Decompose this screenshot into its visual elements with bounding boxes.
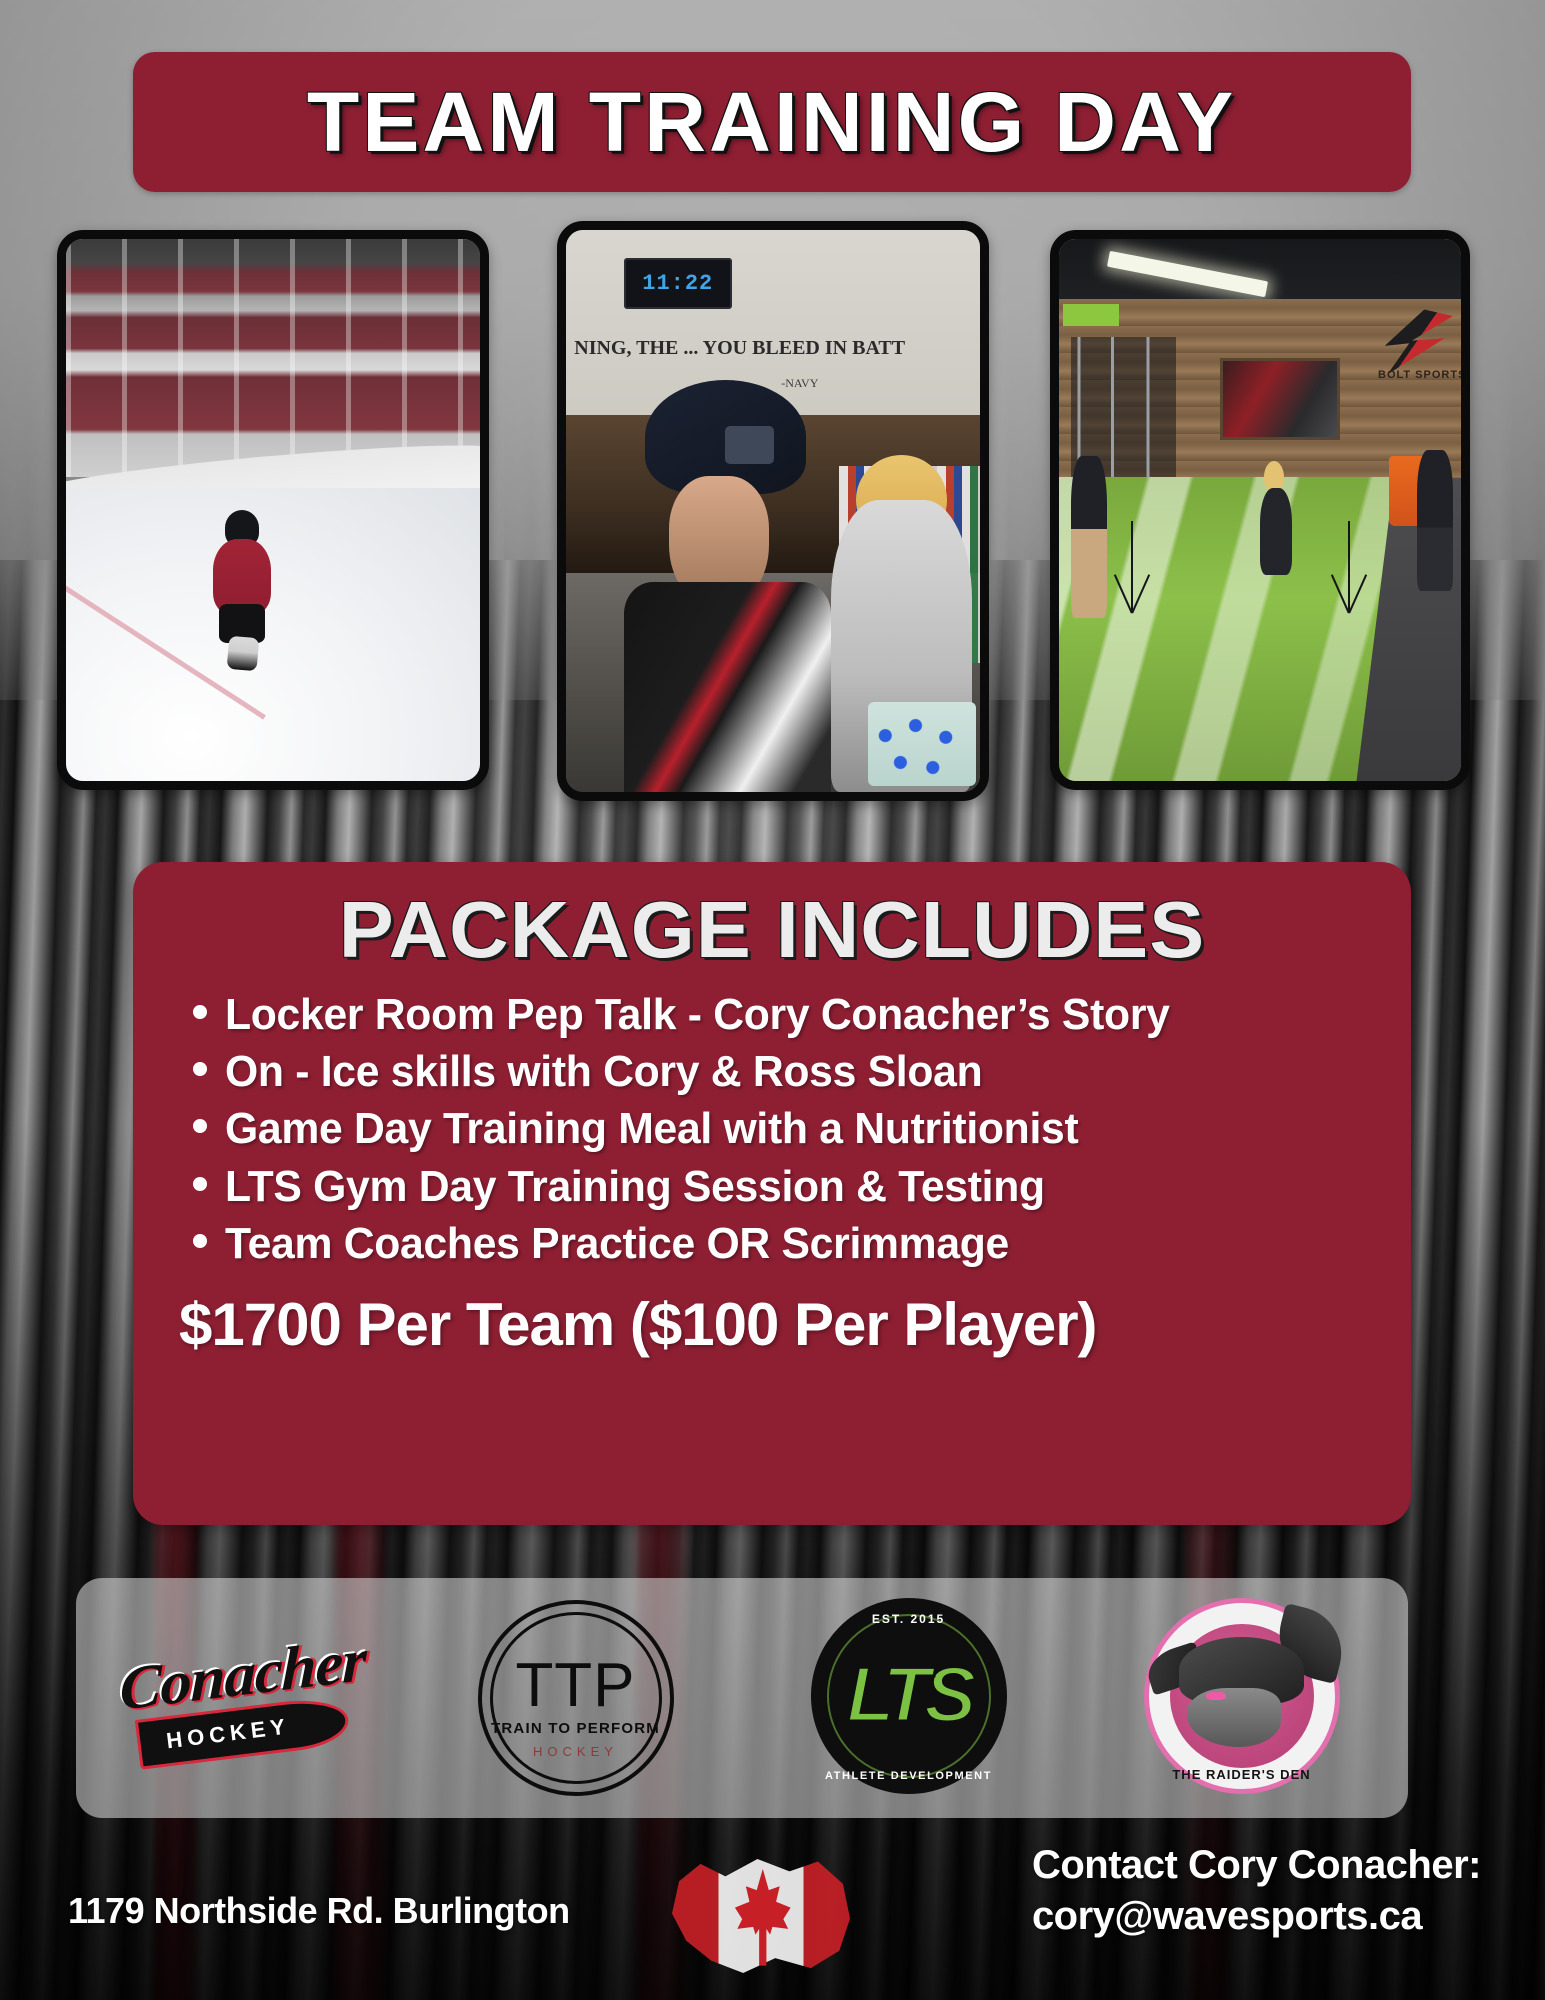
skater-jersey: [213, 539, 271, 614]
contact-label: Contact Cory Conacher:: [1032, 1840, 1481, 1891]
list-item: Game Day Training Meal with a Nutritioni…: [193, 1100, 1371, 1157]
raiders-arc-text: THE RAIDER'S DEN: [1144, 1767, 1340, 1782]
conacher-logo-group: Conacher HOCKEY: [128, 1598, 358, 1798]
ttp-logo-group: TTP TRAIN TO PERFORM HOCKEY: [476, 1598, 676, 1798]
package-heading: PACKAGE INCLUDES: [155, 884, 1389, 976]
list-item: Locker Room Pep Talk - Cory Conacher’s S…: [193, 986, 1371, 1043]
bolt-sports-wall-text: BOLT SPORTS: [1378, 369, 1467, 381]
price-line: $1700 Per Team ($100 Per Player): [173, 1290, 1371, 1359]
bullet-dot-icon: [193, 1062, 207, 1076]
lts-logo-group: EST. 2015 LTS ATHLETE DEVELOPMENT: [811, 1598, 1007, 1794]
cap-logo-patch: [725, 426, 773, 465]
photo-locker-room-content: 11:22 NING, THE ... YOU BLEED IN BATTLE.…: [566, 230, 980, 792]
raiders-logo-group: THE RAIDER'S DEN: [1144, 1598, 1340, 1794]
gym-window: [1220, 358, 1341, 439]
list-item: On - Ice skills with Cory & Ross Sloan: [193, 1043, 1371, 1100]
rink-stands: [66, 239, 480, 477]
list-item: Team Coaches Practice OR Scrimmage: [193, 1215, 1371, 1272]
bystander-left: [1071, 456, 1107, 619]
package-item-label: Team Coaches Practice OR Scrimmage: [225, 1215, 1009, 1272]
ttp-sport: HOCKEY: [476, 1744, 676, 1759]
photo-locker-room: 11:22 NING, THE ... YOU BLEED IN BATTLE.…: [557, 221, 989, 801]
package-item-label: LTS Gym Day Training Session & Testing: [225, 1158, 1045, 1215]
address-text: 1179 Northside Rd. Burlington: [68, 1890, 570, 1932]
package-item-label: Locker Room Pep Talk - Cory Conacher’s S…: [225, 986, 1170, 1043]
poster-title: TEAM TRAINING DAY: [307, 74, 1236, 171]
lts-monogram: LTS: [846, 1641, 971, 1751]
sponsor-logo-bar: Conacher HOCKEY TTP TRAIN TO PERFORM HOC…: [76, 1578, 1408, 1818]
logo-raiders-den: THE RAIDER'S DEN: [1127, 1598, 1357, 1798]
footer: 1179 Northside Rd. Burlington Contact Co…: [0, 1830, 1545, 2000]
photo-on-ice-skating: [57, 230, 489, 790]
ttp-monogram: TTP: [476, 1650, 676, 1721]
package-list: Locker Room Pep Talk - Cory Conacher’s S…: [193, 986, 1371, 1272]
coach-jacket: [624, 582, 831, 801]
photo-strip: 11:22 NING, THE ... YOU BLEED IN BATTLE.…: [0, 222, 1545, 792]
bullet-dot-icon: [193, 1119, 207, 1133]
scoreboard-clock: 11:22: [624, 258, 732, 309]
coach-figure: [632, 354, 839, 792]
runner-figure: [1260, 488, 1292, 575]
bullet-dot-icon: [193, 1177, 207, 1191]
bolt-icon: [1385, 309, 1453, 374]
logo-conacher-hockey: Conacher HOCKEY: [128, 1598, 358, 1798]
timing-gate-left: [1131, 521, 1133, 613]
package-item-label: Game Day Training Meal with a Nutritioni…: [225, 1100, 1078, 1157]
gym-green-sign: [1063, 304, 1119, 326]
bystander-right: [1417, 450, 1453, 591]
bolt-sports-logo: BOLT SPORTS: [1385, 309, 1453, 374]
lts-tagline: ATHLETE DEVELOPMENT: [811, 1770, 1007, 1782]
skater-legs: [226, 636, 259, 671]
scoreboard-time: 11:22: [642, 271, 713, 296]
logo-ttp: TTP TRAIN TO PERFORM HOCKEY: [461, 1598, 691, 1798]
bullet-dot-icon: [193, 1005, 207, 1019]
canadian-flag-icon: [672, 1854, 850, 1978]
logo-lts: EST. 2015 LTS ATHLETE DEVELOPMENT: [794, 1598, 1024, 1798]
package-item-label: On - Ice skills with Cory & Ross Sloan: [225, 1043, 982, 1100]
photo-gym-turf-content: BOLT SPORTS: [1059, 239, 1461, 781]
ttp-tagline: TRAIN TO PERFORM: [476, 1720, 676, 1737]
bullet-dot-icon: [193, 1234, 207, 1248]
raiders-mascot-eye: [1206, 1692, 1226, 1700]
contact-email[interactable]: cory@wavesports.ca: [1032, 1891, 1481, 1942]
title-banner: TEAM TRAINING DAY: [133, 52, 1411, 192]
contact-block: Contact Cory Conacher: cory@wavesports.c…: [1032, 1840, 1481, 1942]
water-bottles: [868, 702, 976, 786]
photo-gym-turf: BOLT SPORTS: [1050, 230, 1470, 790]
lts-est-text: EST. 2015: [811, 1612, 1007, 1626]
package-panel: PACKAGE INCLUDES Locker Room Pep Talk - …: [133, 862, 1411, 1525]
conacher-hockey-text: HOCKEY: [164, 1713, 290, 1754]
poster: TEAM TRAINING DAY 11:22: [0, 0, 1545, 2000]
photo-on-ice-content: [66, 239, 480, 781]
list-item: LTS Gym Day Training Session & Testing: [193, 1158, 1371, 1215]
skater-figure: [207, 510, 282, 673]
timing-gate-right: [1348, 521, 1350, 613]
